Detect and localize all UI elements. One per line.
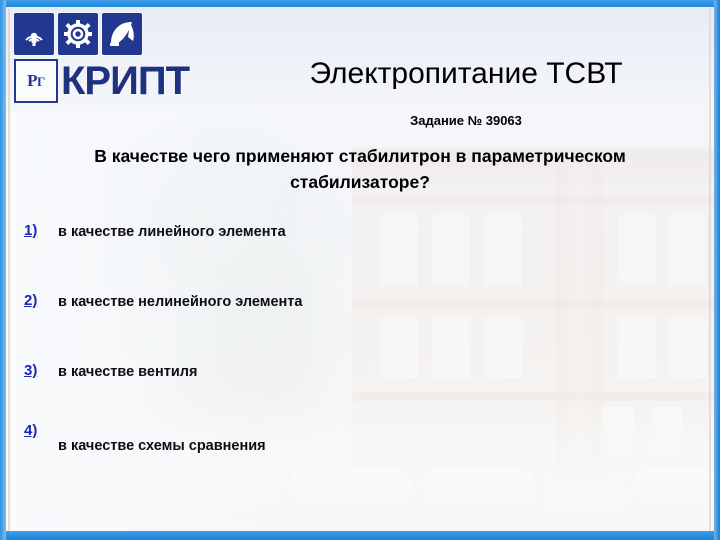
rg-badge: РГ	[14, 59, 58, 103]
question-text: В качестве чего применяют стабилитрон в …	[24, 143, 696, 195]
answer-number-3[interactable]: 3)	[24, 362, 37, 379]
gear-icon	[58, 13, 98, 55]
satellite-dish-icon	[102, 13, 142, 55]
answer-text-4[interactable]: в качестве схемы сравнения	[58, 438, 266, 454]
answer-options-list: 1) в качестве линейного элемента 2) в ка…	[0, 216, 720, 496]
border-right	[714, 0, 720, 540]
border-bottom	[0, 531, 720, 540]
border-left	[0, 0, 6, 540]
answer-option-4[interactable]: 4) в качестве схемы сравнения	[0, 426, 720, 496]
slide-header: РГ КРИПТ Электропитание ТСВТ	[0, 7, 720, 111]
answer-number-1[interactable]: 1)	[24, 222, 37, 239]
answer-option-3[interactable]: 3) в качестве вентиля	[0, 356, 720, 426]
page-title: Электропитание ТСВТ	[246, 57, 686, 91]
answer-number-2[interactable]: 2)	[24, 292, 37, 309]
answer-text-2[interactable]: в качестве нелинейного элемента	[58, 294, 302, 310]
border-inner-right	[709, 9, 711, 531]
task-number: Задание № 39063	[246, 113, 686, 128]
kript-wordmark: КРИПТ	[61, 61, 189, 101]
logo-icon-row	[14, 13, 142, 55]
answer-option-1[interactable]: 1) в качестве линейного элемента	[0, 216, 720, 286]
logo-wordmark-row: РГ КРИПТ	[14, 59, 189, 103]
rg-badge-text: РГ	[27, 71, 45, 91]
answer-option-2[interactable]: 2) в качестве нелинейного элемента	[0, 286, 720, 356]
answer-number-4[interactable]: 4)	[24, 422, 37, 439]
border-inner-left	[8, 9, 10, 531]
answer-text-1[interactable]: в качестве линейного элемента	[58, 224, 286, 240]
kript-logo: РГ КРИПТ	[14, 11, 214, 103]
answer-text-3[interactable]: в качестве вентиля	[58, 364, 197, 380]
border-top	[0, 0, 720, 7]
quiz-slide: РГ КРИПТ Электропитание ТСВТ Задание № 3…	[0, 0, 720, 540]
antenna-signal-icon	[14, 13, 54, 55]
